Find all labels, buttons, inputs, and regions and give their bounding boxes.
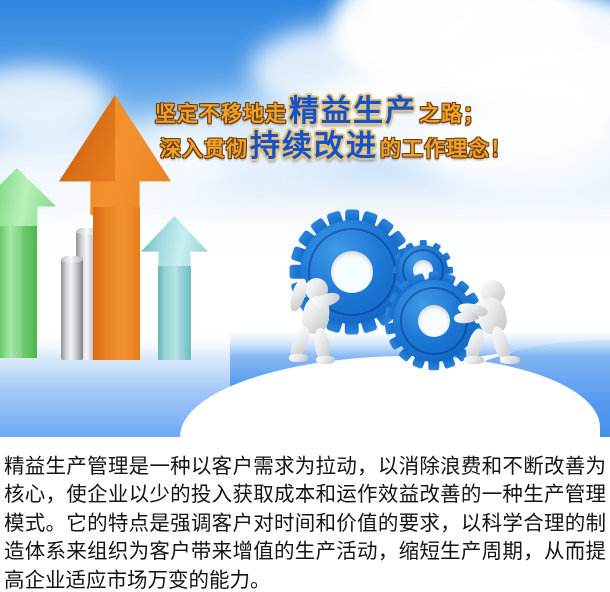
title-segment-blue: 精益生产: [289, 94, 417, 129]
teal-arrow-shaft-side: [177, 266, 190, 360]
banner-title-line-1: 坚定不移地走精益生产之路；: [0, 96, 610, 128]
figure-left: [289, 272, 355, 364]
teal-arrow: [141, 216, 208, 360]
article-body: 精益生产管理是一种以客户需求为拉动，以消除浪费和不断改善为核心，使企业以少的投入…: [0, 452, 610, 592]
title-segment-orange: 坚定不移地走: [155, 102, 287, 126]
orange-arrow-shaft-side: [122, 207, 140, 360]
green-arrow-shaft-side: [22, 226, 37, 358]
figure-foot-front: [500, 356, 520, 364]
figure-foot-front: [316, 356, 335, 364]
green-arrow-head: [0, 168, 56, 230]
green-arrow-shaft: [0, 226, 22, 358]
teal-arrow-head: [141, 216, 208, 270]
banner-title: 坚定不移地走精益生产之路； 深入贯彻持续改进的工作理念！: [0, 96, 610, 163]
teal-arrow-shaft: [158, 266, 177, 360]
green-arrow: [0, 168, 56, 358]
title-segment-orange: 的工作理念！: [380, 137, 512, 161]
title-segment-blue: 持续改进: [250, 129, 378, 164]
banner-title-line-2: 深入贯彻持续改进的工作理念！: [0, 131, 610, 163]
figure-arm-lower: [453, 311, 478, 324]
figure-right: [452, 278, 524, 366]
orange-arrow-shaft: [93, 207, 122, 360]
page-root: 坚定不移地走精益生产之路； 深入贯彻持续改进的工作理念！ 精益生产管理是一种以客…: [0, 0, 610, 592]
figure-foot-back: [289, 354, 308, 362]
hero-banner: 坚定不移地走精益生产之路； 深入贯彻持续改进的工作理念！: [0, 0, 610, 437]
figure-foot-back: [464, 356, 484, 364]
title-segment-orange: 深入贯彻: [160, 137, 248, 161]
article-paragraph: 精益生产管理是一种以客户需求为拉动，以消除浪费和不断改善为核心，使企业以少的投入…: [4, 452, 606, 592]
title-segment-orange: 之路；: [419, 102, 485, 126]
